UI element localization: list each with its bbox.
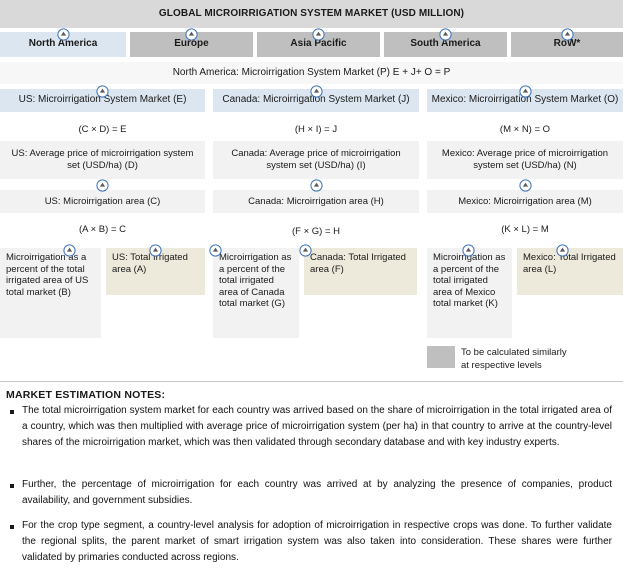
avg-price-label-us: US: Average price of microirrigation sys…	[4, 148, 201, 171]
note-bullet-icon	[10, 484, 14, 488]
up-arrow-circle-icon[interactable]	[96, 85, 109, 98]
leaf-box-mexico-total-irrigated[interactable]: Mexico: Total Irrigated area (L)	[517, 248, 623, 295]
leaf-label-mexico-total-irrigated: Mexico: Total Irrigated area (L)	[523, 252, 617, 275]
formula-mexico-market: (M × N) = O	[427, 124, 623, 135]
avg-price-label-mexico: Mexico: Average price of microirrigation…	[431, 148, 619, 171]
up-arrow-circle-icon[interactable]	[519, 85, 532, 98]
up-arrow-circle-icon[interactable]	[149, 244, 162, 257]
formula-canada-area: (F × G) = H	[213, 226, 419, 237]
note-item-3: For the crop type segment, a country-lev…	[22, 518, 612, 567]
up-arrow-circle-icon[interactable]	[439, 28, 452, 41]
up-arrow-circle-icon[interactable]	[96, 179, 109, 192]
avg-price-box-us[interactable]: US: Average price of microirrigation sys…	[0, 141, 205, 179]
leaf-label-canada-total-irrigated: Canada: Total Irrigated area (F)	[310, 252, 411, 275]
up-arrow-circle-icon[interactable]	[556, 244, 569, 257]
notes-title: MARKET ESTIMATION NOTES:	[6, 389, 165, 401]
up-arrow-circle-icon[interactable]	[57, 28, 70, 41]
micro-area-label-mexico: Mexico: Microirrigation area (M)	[458, 196, 592, 208]
leaf-box-mexico-percent[interactable]: Microirrigation as a percent of the tota…	[427, 248, 512, 338]
up-arrow-circle-icon[interactable]	[462, 244, 475, 257]
leaf-box-canada-percent[interactable]: Microirrigation as a percent of the tota…	[213, 248, 299, 338]
north-america-market-band-label: North America: Microirrigation System Ma…	[173, 67, 451, 79]
formula-mexico-area: (K × L) = M	[427, 224, 623, 235]
up-arrow-circle-icon[interactable]	[519, 179, 532, 192]
note-bullet-icon	[10, 525, 14, 529]
north-america-market-band: North America: Microirrigation System Ma…	[0, 62, 623, 84]
legend-swatch	[427, 346, 455, 368]
leaf-label-mexico-percent: Microirrigation as a percent of the tota…	[433, 252, 506, 310]
up-arrow-circle-icon[interactable]	[310, 179, 323, 192]
market-estimation-diagram: GLOBAL MICROIRRIGATION SYSTEM MARKET (US…	[0, 0, 623, 577]
formula-us-market: (C × D) = E	[0, 124, 205, 135]
micro-area-label-us: US: Microirrigation area (C)	[45, 196, 161, 208]
avg-price-box-mexico[interactable]: Mexico: Average price of microirrigation…	[427, 141, 623, 179]
up-arrow-circle-icon[interactable]	[299, 244, 312, 257]
leaf-label-us-percent: Microirrigation as a percent of the tota…	[6, 252, 95, 298]
up-arrow-circle-icon[interactable]	[63, 244, 76, 257]
note-bullet-icon	[10, 410, 14, 414]
micro-area-box-us[interactable]: US: Microirrigation area (C)	[0, 190, 205, 213]
leaf-box-canada-total-irrigated[interactable]: Canada: Total Irrigated area (F)	[304, 248, 417, 295]
formula-us-area: (A × B) = C	[0, 224, 205, 235]
up-arrow-circle-icon[interactable]	[209, 244, 222, 257]
up-arrow-circle-icon[interactable]	[312, 28, 325, 41]
up-arrow-circle-icon[interactable]	[310, 85, 323, 98]
global-market-header: GLOBAL MICROIRRIGATION SYSTEM MARKET (US…	[0, 0, 623, 28]
note-item-2: Further, the percentage of microirrigati…	[22, 477, 612, 509]
micro-area-label-canada: Canada: Microirrigation area (H)	[248, 196, 384, 208]
formula-canada-market: (H × I) = J	[213, 124, 419, 135]
avg-price-label-canada: Canada: Average price of microirrigation…	[217, 148, 415, 171]
micro-area-box-canada[interactable]: Canada: Microirrigation area (H)	[213, 190, 419, 213]
up-arrow-circle-icon[interactable]	[561, 28, 574, 41]
leaf-box-us-percent[interactable]: Microirrigation as a percent of the tota…	[0, 248, 101, 338]
avg-price-box-canada[interactable]: Canada: Average price of microirrigation…	[213, 141, 419, 179]
global-market-header-title: GLOBAL MICROIRRIGATION SYSTEM MARKET (US…	[159, 8, 464, 20]
leaf-label-canada-percent: Microirrigation as a percent of the tota…	[219, 252, 293, 310]
note-item-1: The total microirrigation system market …	[22, 403, 612, 452]
legend-text: To be calculated similarly at respective…	[461, 347, 616, 373]
notes-divider	[0, 381, 623, 382]
up-arrow-circle-icon[interactable]	[185, 28, 198, 41]
micro-area-box-mexico[interactable]: Mexico: Microirrigation area (M)	[427, 190, 623, 213]
